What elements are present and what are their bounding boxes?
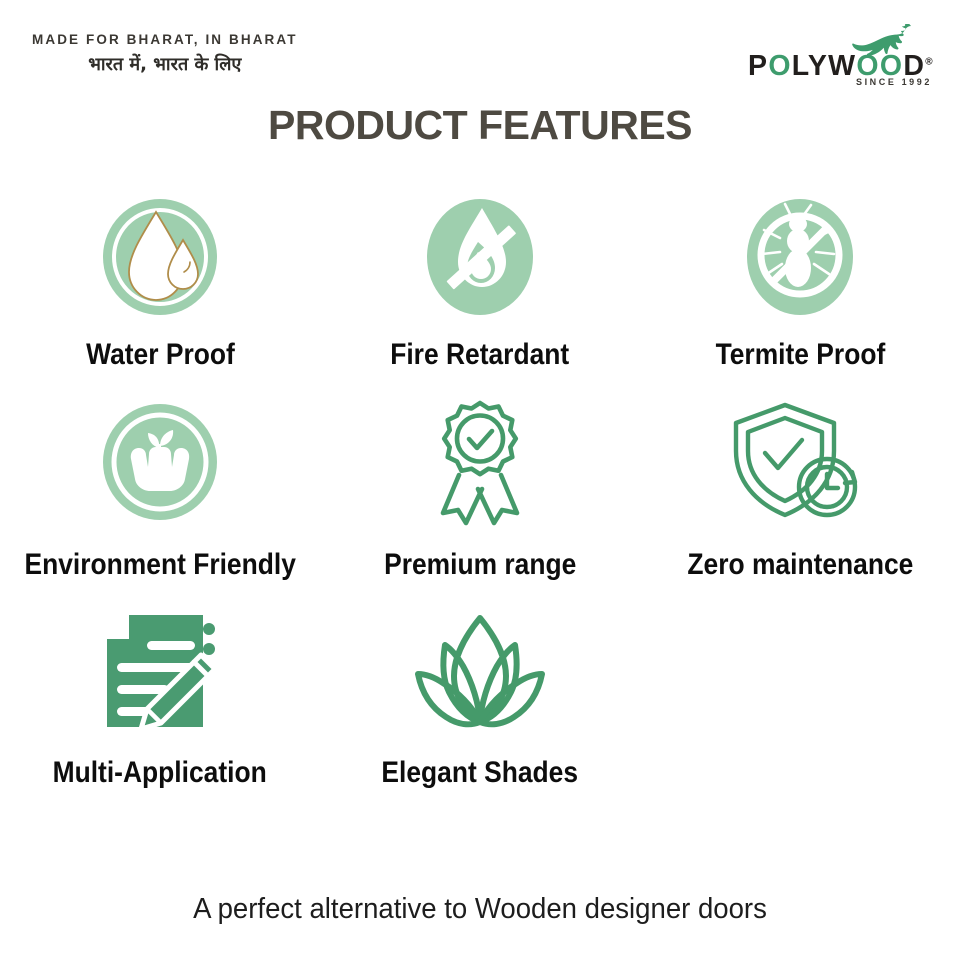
polywood-logo: POLYWOOD® SINCE 1992 (748, 26, 938, 88)
feature-item-environment-friendly: Environment Friendly (0, 370, 320, 580)
water-drop-icon (100, 196, 220, 318)
feature-label: Premium range (384, 550, 576, 580)
footer-tagline: A perfect alternative to Wooden designer… (24, 895, 936, 924)
made-in-bharat-tagline: MADE FOR BHARAT, IN BHARAT भारत में, भार… (32, 33, 298, 74)
no-fire-icon (424, 196, 536, 318)
award-badge-icon (421, 396, 539, 528)
feature-label: Elegant Shades (382, 758, 579, 788)
tagline-hindi: भारत में, भारत के लिए (32, 56, 298, 74)
registered-trademark-icon: ® (925, 57, 932, 68)
product-features-infographic: MADE FOR BHARAT, IN BHARAT भारत में, भार… (0, 0, 960, 960)
hands-plant-icon (99, 396, 221, 528)
features-row-2: Environment Friendly Premium range (0, 370, 960, 580)
tagline-english: MADE FOR BHARAT, IN BHARAT (32, 33, 298, 47)
page-title: PRODUCT FEATURES (0, 103, 960, 148)
feature-item-premium-range: Premium range (320, 370, 640, 580)
wordmark-lyw: LYW (792, 50, 857, 82)
wordmark-o1: O (768, 50, 791, 82)
features-row-3: Multi-Application Elegant Shades (0, 580, 960, 788)
feature-label: Environment Friendly (24, 550, 295, 580)
feature-label: Water Proof (86, 340, 235, 370)
feature-item-termite-proof: Termite Proof (640, 196, 960, 370)
feature-item-water-proof: Water Proof (0, 196, 320, 370)
feature-label: Multi-Application (53, 758, 267, 788)
feature-label: Fire Retardant (391, 340, 570, 370)
feature-label: Zero maintenance (687, 550, 913, 580)
lotus-flower-icon (412, 608, 548, 740)
feature-item-multi-application: Multi-Application (0, 580, 320, 788)
feature-item-fire-retardant: Fire Retardant (320, 196, 640, 370)
no-termite-icon (744, 196, 856, 318)
document-pencil-icon (95, 608, 225, 740)
feature-item-empty (640, 580, 960, 788)
header: MADE FOR BHARAT, IN BHARAT भारत में, भार… (0, 0, 960, 100)
feature-item-zero-maintenance: Zero maintenance (640, 370, 960, 580)
shield-check-clock-icon (730, 396, 870, 528)
since-label: SINCE 1992 (856, 78, 932, 87)
wordmark-p: P (748, 50, 768, 82)
feature-label: Termite Proof (715, 340, 885, 370)
features-grid: Water Proof Fire Retardant (0, 196, 960, 788)
feature-item-elegant-shades: Elegant Shades (320, 580, 640, 788)
features-row-1: Water Proof Fire Retardant (0, 196, 960, 370)
